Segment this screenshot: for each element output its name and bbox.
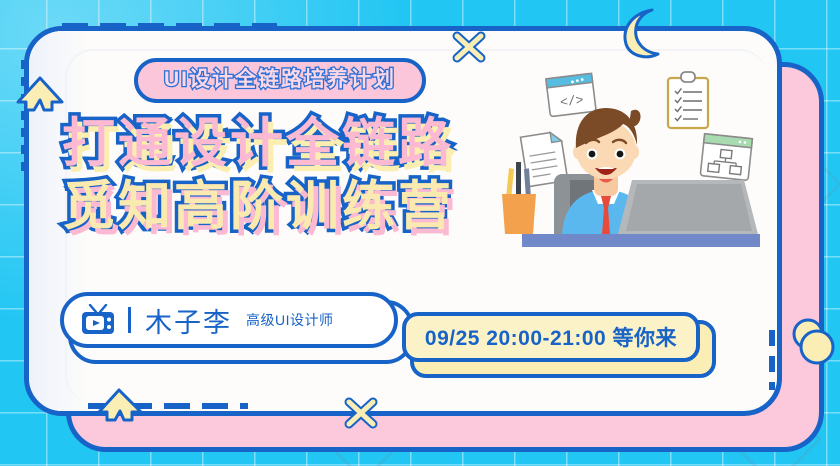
desk-surface	[522, 234, 760, 247]
illustration-man-at-laptop: </>	[500, 62, 780, 292]
dashed-accent-top	[62, 23, 277, 29]
badge-program-label: UI设计全链路培养计划	[134, 58, 426, 103]
speaker-name: 木子李	[145, 301, 232, 340]
x-mark-icon	[340, 392, 382, 434]
crescent-moon-icon	[612, 6, 672, 62]
x-mark-icon	[448, 26, 490, 68]
tv-play-icon	[80, 304, 116, 336]
headline-line-2: 觅知高阶训练营	[62, 179, 532, 234]
speaker-title: 高级UI设计师	[246, 310, 334, 330]
headline-line-1: 打通设计全链路	[62, 116, 532, 171]
code-browser-window-icon: </>	[546, 73, 596, 116]
date-bar: 09/25 20:00-21:00 等你来	[402, 312, 700, 362]
speaker-divider	[128, 307, 131, 333]
promo-poster: 觅知网 觅知网 </>	[0, 0, 840, 466]
sitemap-browser-window-icon	[700, 134, 752, 181]
headline: 打通设计全链路 觅知高阶训练营	[62, 116, 532, 234]
date-text: 09/25 20:00-21:00 等你来	[425, 322, 677, 352]
svg-text:</>: </>	[559, 93, 584, 111]
cursor-arrow-icon	[96, 386, 144, 428]
clipboard-checklist-icon	[668, 72, 708, 128]
laptop-icon	[618, 180, 758, 234]
dashed-accent-right	[769, 330, 775, 390]
speaker-bar: 木子李 高级UI设计师	[60, 292, 398, 348]
double-circle-icon	[790, 316, 840, 372]
cursor-arrow-icon	[14, 72, 66, 118]
